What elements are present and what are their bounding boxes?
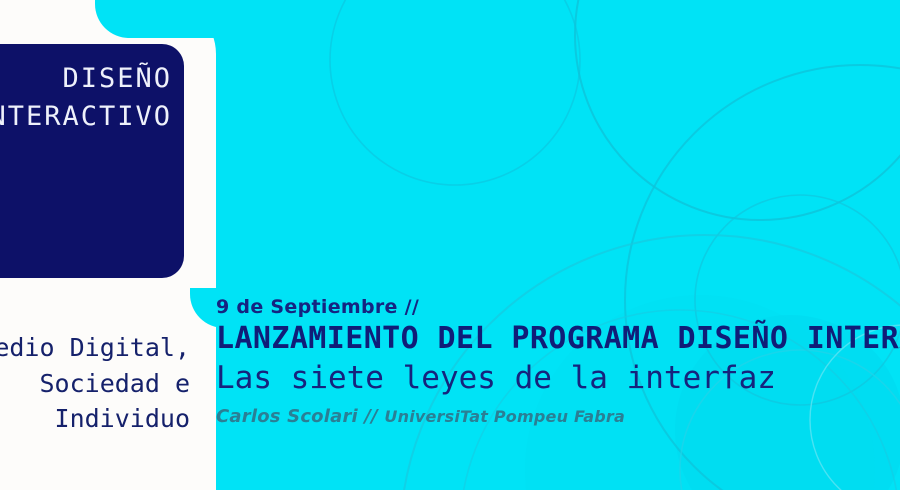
poster-banner: DISEÑO INTERACTIVO Medio Digital, Socied… — [0, 0, 900, 490]
program-name-line-3: Individuo — [0, 401, 190, 437]
brand-card-line-1: DISEÑO — [0, 60, 172, 98]
speaker-affiliation: UniversiTat Pompeu Fabra — [384, 407, 625, 426]
program-name: Medio Digital, Sociedad e Individuo — [0, 330, 190, 437]
brand-card: DISEÑO INTERACTIVO — [0, 44, 184, 278]
event-date: 9 de Septiembre // — [216, 296, 900, 318]
program-name-line-2: Sociedad e — [0, 366, 190, 402]
event-details: 9 de Septiembre // LANZAMIENTO DEL PROGR… — [216, 296, 900, 427]
brand-card-title: DISEÑO INTERACTIVO — [0, 60, 172, 137]
left-panel-top-notch — [95, 0, 216, 38]
event-title: LANZAMIENTO DEL PROGRAMA DISEÑO INTERACT… — [216, 321, 900, 356]
brand-card-line-2: INTERACTIVO — [0, 98, 172, 136]
event-speaker: Carlos Scolari // UniversiTat Pompeu Fab… — [216, 406, 900, 427]
speaker-name: Carlos Scolari // — [216, 406, 384, 427]
program-name-line-1: Medio Digital, — [0, 330, 190, 366]
event-subtitle: Las siete leyes de la interfaz — [216, 358, 900, 398]
